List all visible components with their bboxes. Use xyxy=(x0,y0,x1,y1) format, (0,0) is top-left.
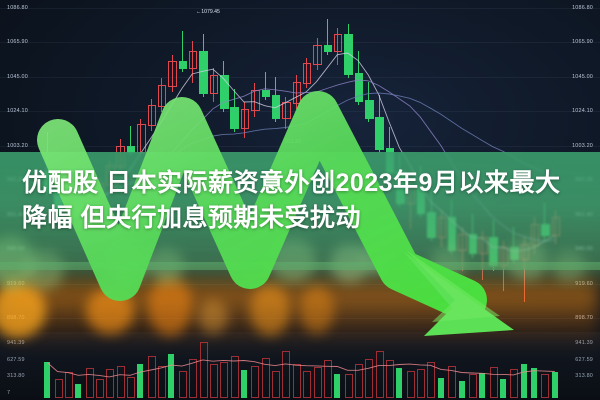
headline-line-1: 优配股 日本实际薪资意外创2023年9月以来最大 xyxy=(16,166,584,201)
headline-line-2: 降幅 但央行加息预期未受扰动 xyxy=(16,201,584,236)
headline-text: 优配股 日本实际薪资意外创2023年9月以来最大 降幅 但央行加息预期未受扰动 xyxy=(16,166,584,235)
news-thumbnail-image: 941.39627.59313.807941.39627.59313.80 10… xyxy=(0,0,600,400)
